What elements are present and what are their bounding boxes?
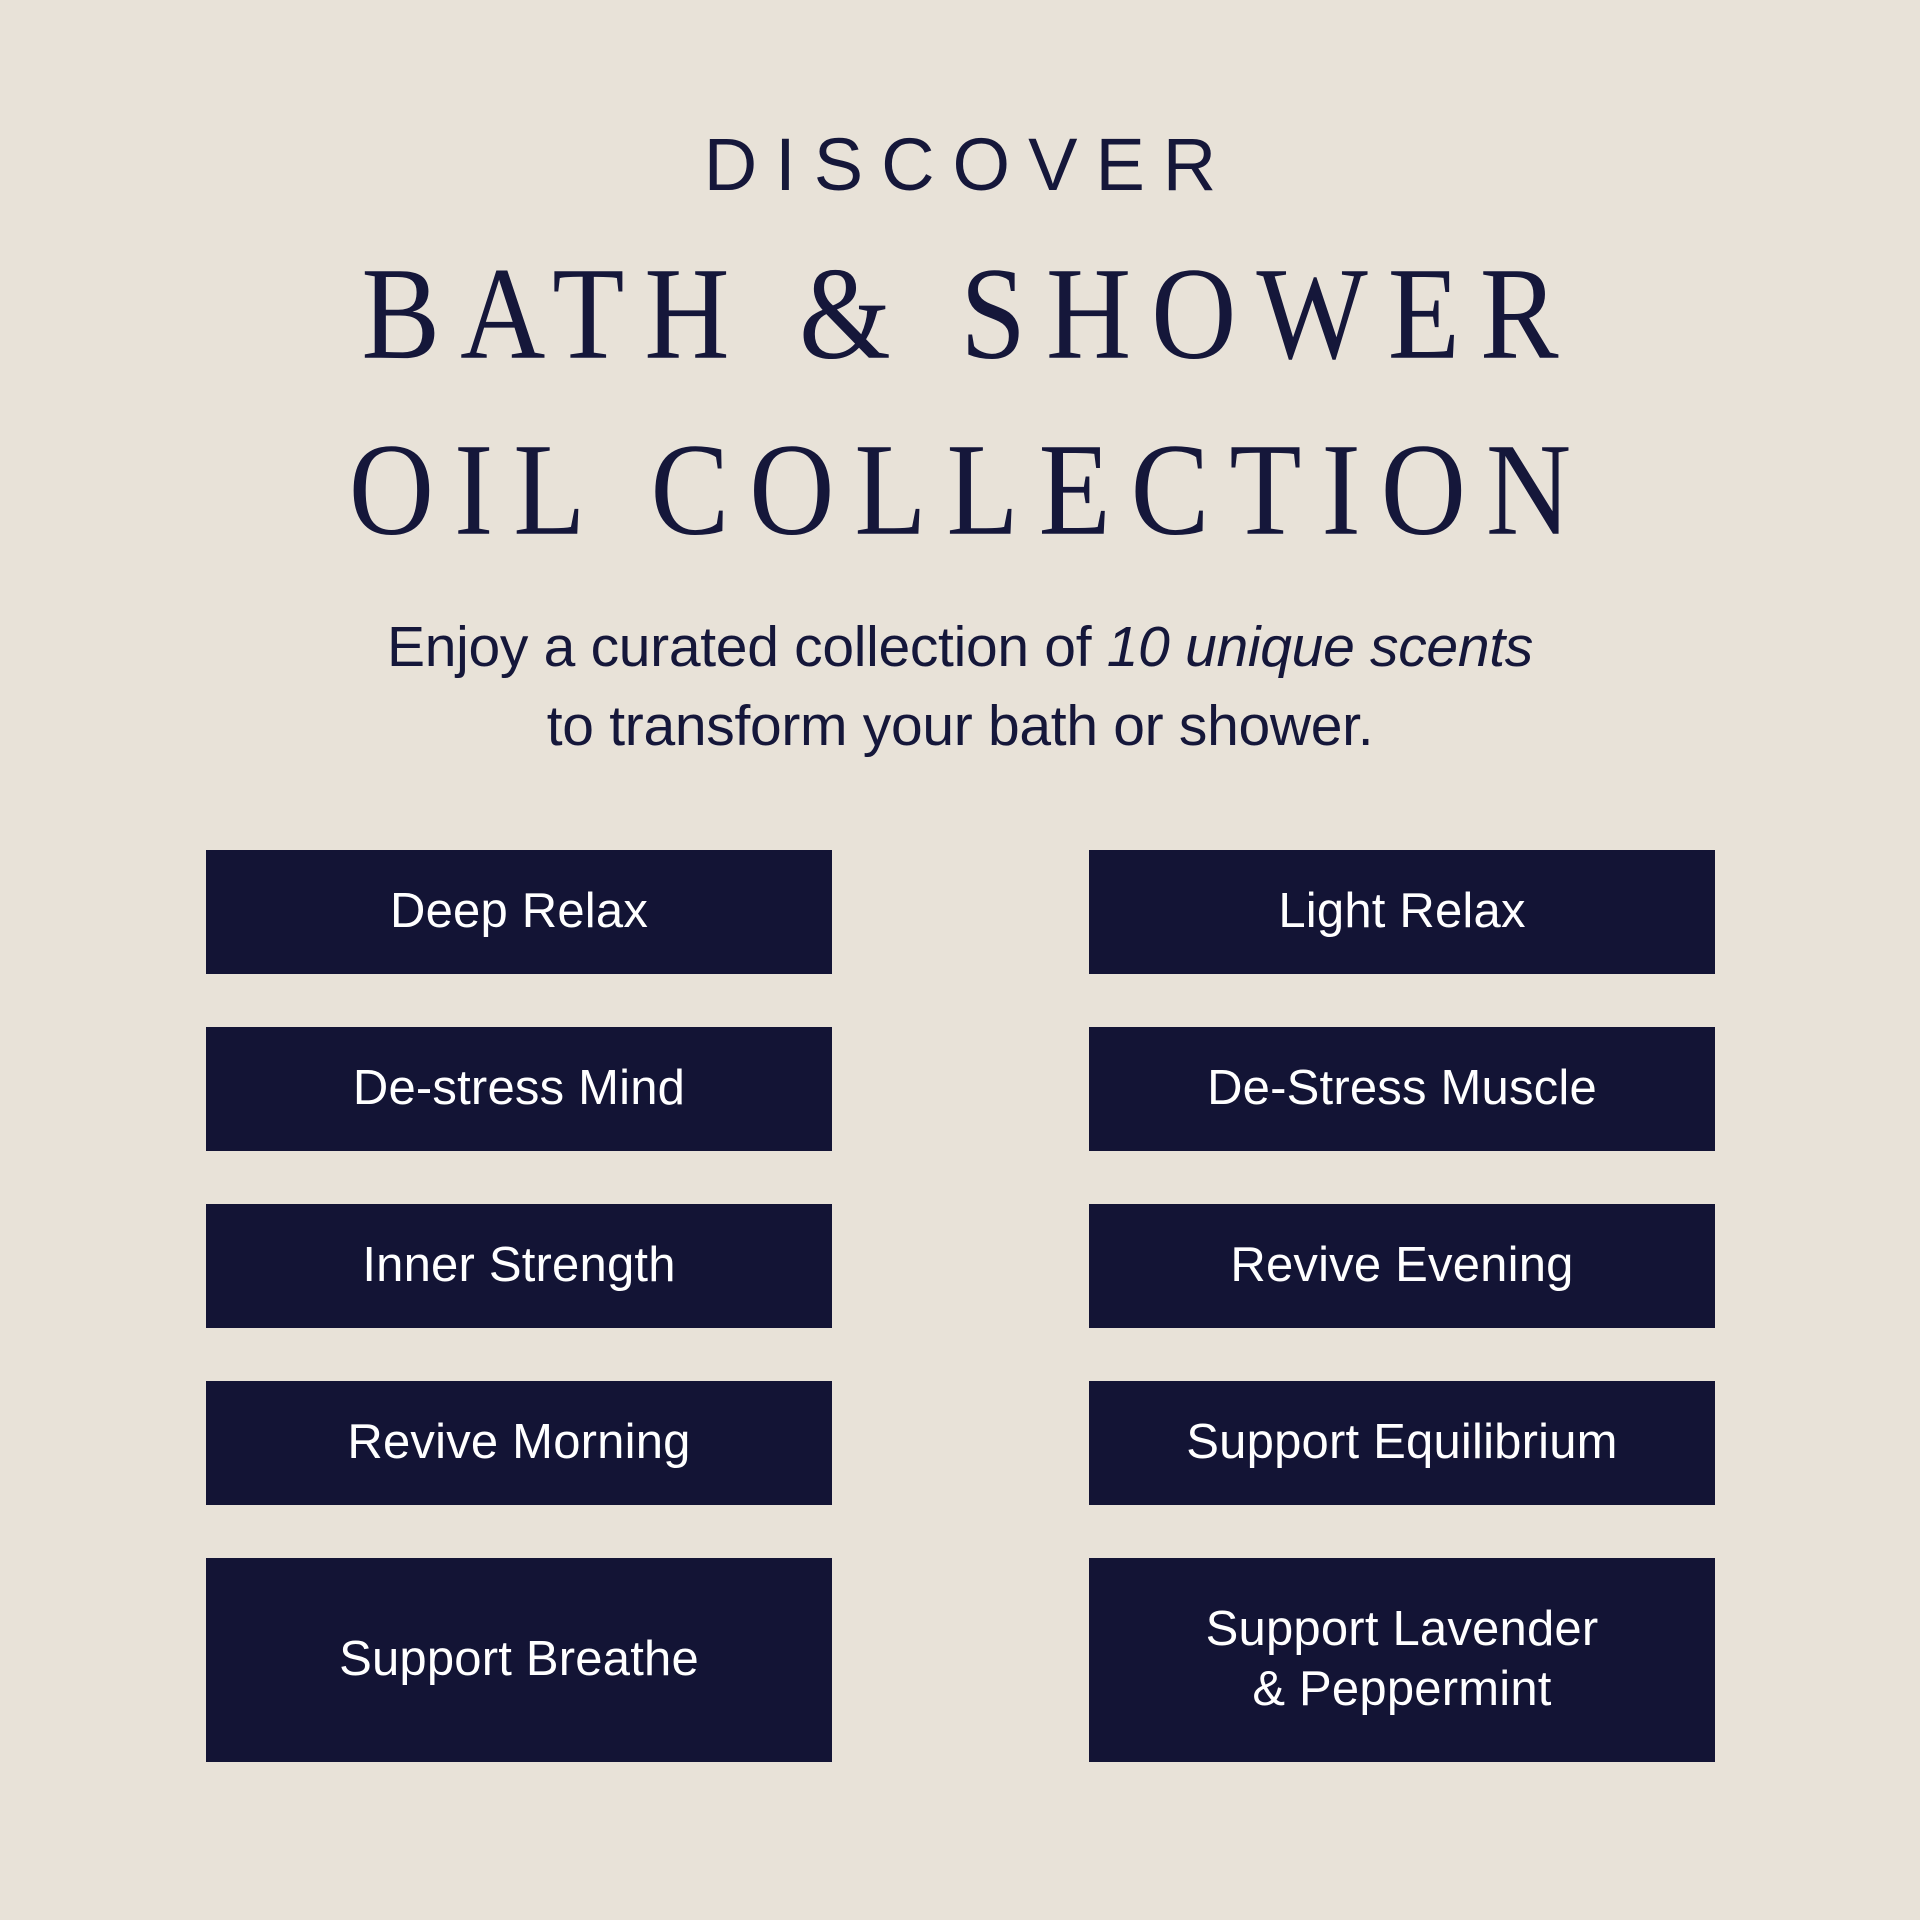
scent-chip-inner-strength[interactable]: Inner Strength [206, 1204, 832, 1328]
scent-chip-label: Support Lavender & Peppermint [1206, 1600, 1599, 1720]
scent-chip-support-equilibrium[interactable]: Support Equilibrium [1089, 1381, 1715, 1505]
poster-header: DISCOVER BATH & SHOWER OIL COLLECTION En… [0, 0, 1920, 765]
promo-poster: DISCOVER BATH & SHOWER OIL COLLECTION En… [0, 0, 1920, 1920]
scent-chip-support-breathe[interactable]: Support Breathe [206, 1558, 832, 1762]
eyebrow-label: DISCOVER [0, 128, 1920, 202]
scent-chip-deep-relax[interactable]: Deep Relax [206, 850, 832, 974]
subtitle-emphasis: 10 unique scents [1107, 615, 1533, 679]
poster-title-line-2: OIL COLLECTION [0, 424, 1920, 556]
scent-chip-label: Inner Strength [362, 1236, 675, 1296]
scent-chip-de-stress-muscle[interactable]: De-Stress Muscle [1089, 1027, 1715, 1151]
scent-chip-label: Deep Relax [390, 882, 648, 942]
scent-chip-revive-evening[interactable]: Revive Evening [1089, 1204, 1715, 1328]
scent-chip-label: De-stress Mind [353, 1059, 685, 1119]
subtitle-text-before: Enjoy a curated collection of [387, 615, 1107, 679]
scent-chip-label: Light Relax [1278, 882, 1525, 942]
scent-chip-label: Revive Evening [1230, 1236, 1573, 1296]
poster-subtitle: Enjoy a curated collection of 10 unique … [0, 608, 1920, 765]
scent-chip-label: Revive Morning [347, 1413, 690, 1473]
scent-chip-grid: Deep Relax Light Relax De-stress Mind De… [206, 850, 1718, 1762]
scent-chip-de-stress-mind[interactable]: De-stress Mind [206, 1027, 832, 1151]
subtitle-line-1: Enjoy a curated collection of 10 unique … [0, 608, 1920, 687]
scent-chip-revive-morning[interactable]: Revive Morning [206, 1381, 832, 1505]
scent-chip-light-relax[interactable]: Light Relax [1089, 850, 1715, 974]
scent-chip-label: Support Breathe [339, 1630, 699, 1690]
subtitle-line-2: to transform your bath or shower. [0, 687, 1920, 766]
poster-title-line-1: BATH & SHOWER [0, 248, 1920, 380]
scent-chip-label: De-Stress Muscle [1207, 1059, 1597, 1119]
scent-chip-support-lavender-peppermint[interactable]: Support Lavender & Peppermint [1089, 1558, 1715, 1762]
scent-chip-label: Support Equilibrium [1186, 1413, 1617, 1473]
